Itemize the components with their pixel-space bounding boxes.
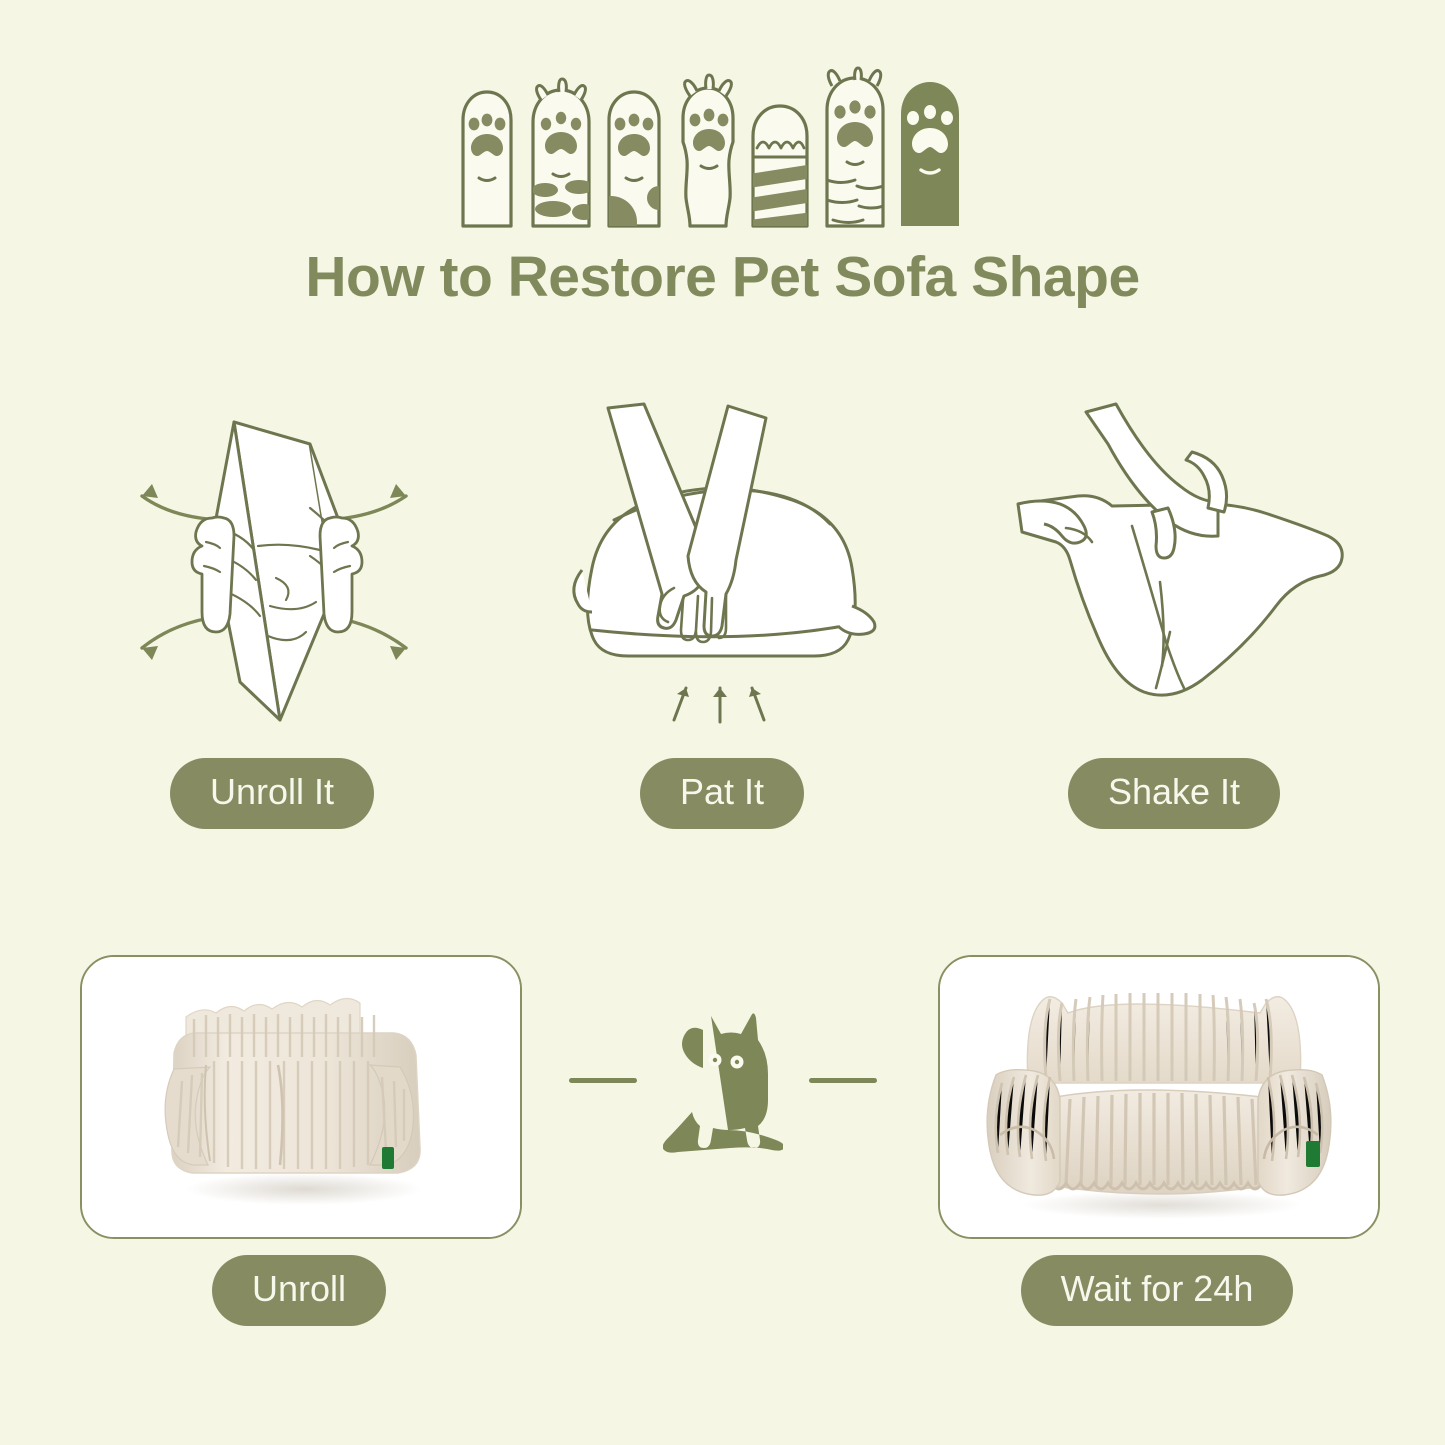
step-3-label-wrap: Shake It	[944, 758, 1404, 829]
step-shake-it: Shake It	[944, 400, 1404, 840]
before-label-wrap: Unroll	[80, 1255, 518, 1326]
step-2-label-wrap: Pat It	[492, 758, 952, 829]
cat-divider	[548, 980, 898, 1180]
paw-3	[585, 92, 671, 232]
step-pat-it: Pat It	[492, 400, 952, 840]
paw-5	[749, 106, 813, 232]
divider-dash-right	[809, 1078, 877, 1083]
compressed-rolled-pet-bed-photo	[80, 955, 522, 1239]
restored-pet-sofa-bed-photo	[938, 955, 1380, 1239]
shake-illustration	[944, 400, 1404, 730]
brand-tag	[1306, 1141, 1320, 1167]
infographic-page: How to Restore Pet Sofa Shape	[0, 0, 1445, 1445]
unroll-illustration	[42, 400, 502, 730]
step-2-label: Pat It	[640, 758, 804, 829]
cat-silhouette-icon	[663, 1000, 783, 1160]
step-3-label: Shake It	[1068, 758, 1280, 829]
paw-1	[463, 92, 511, 226]
page-title: How to Restore Pet Sofa Shape	[0, 244, 1445, 310]
before-label: Unroll	[212, 1255, 386, 1326]
after-label-wrap: Wait for 24h	[938, 1255, 1376, 1326]
step-1-label-wrap: Unroll It	[42, 758, 502, 829]
divider-dash-left	[569, 1078, 637, 1083]
paw-6	[827, 68, 883, 226]
after-label: Wait for 24h	[1021, 1255, 1294, 1326]
step-1-label: Unroll It	[170, 758, 374, 829]
paw-7	[901, 82, 959, 226]
step-unroll-it: Unroll It	[42, 400, 502, 840]
before-after-compare: Unroll Wait for 24h	[0, 955, 1445, 1355]
brand-tag	[382, 1147, 394, 1169]
paw-4	[683, 75, 733, 226]
pat-illustration	[492, 400, 952, 730]
steps-row: Unroll It	[0, 400, 1445, 840]
cat-paws-row-icon	[0, 62, 1445, 232]
paw-2	[532, 79, 596, 226]
